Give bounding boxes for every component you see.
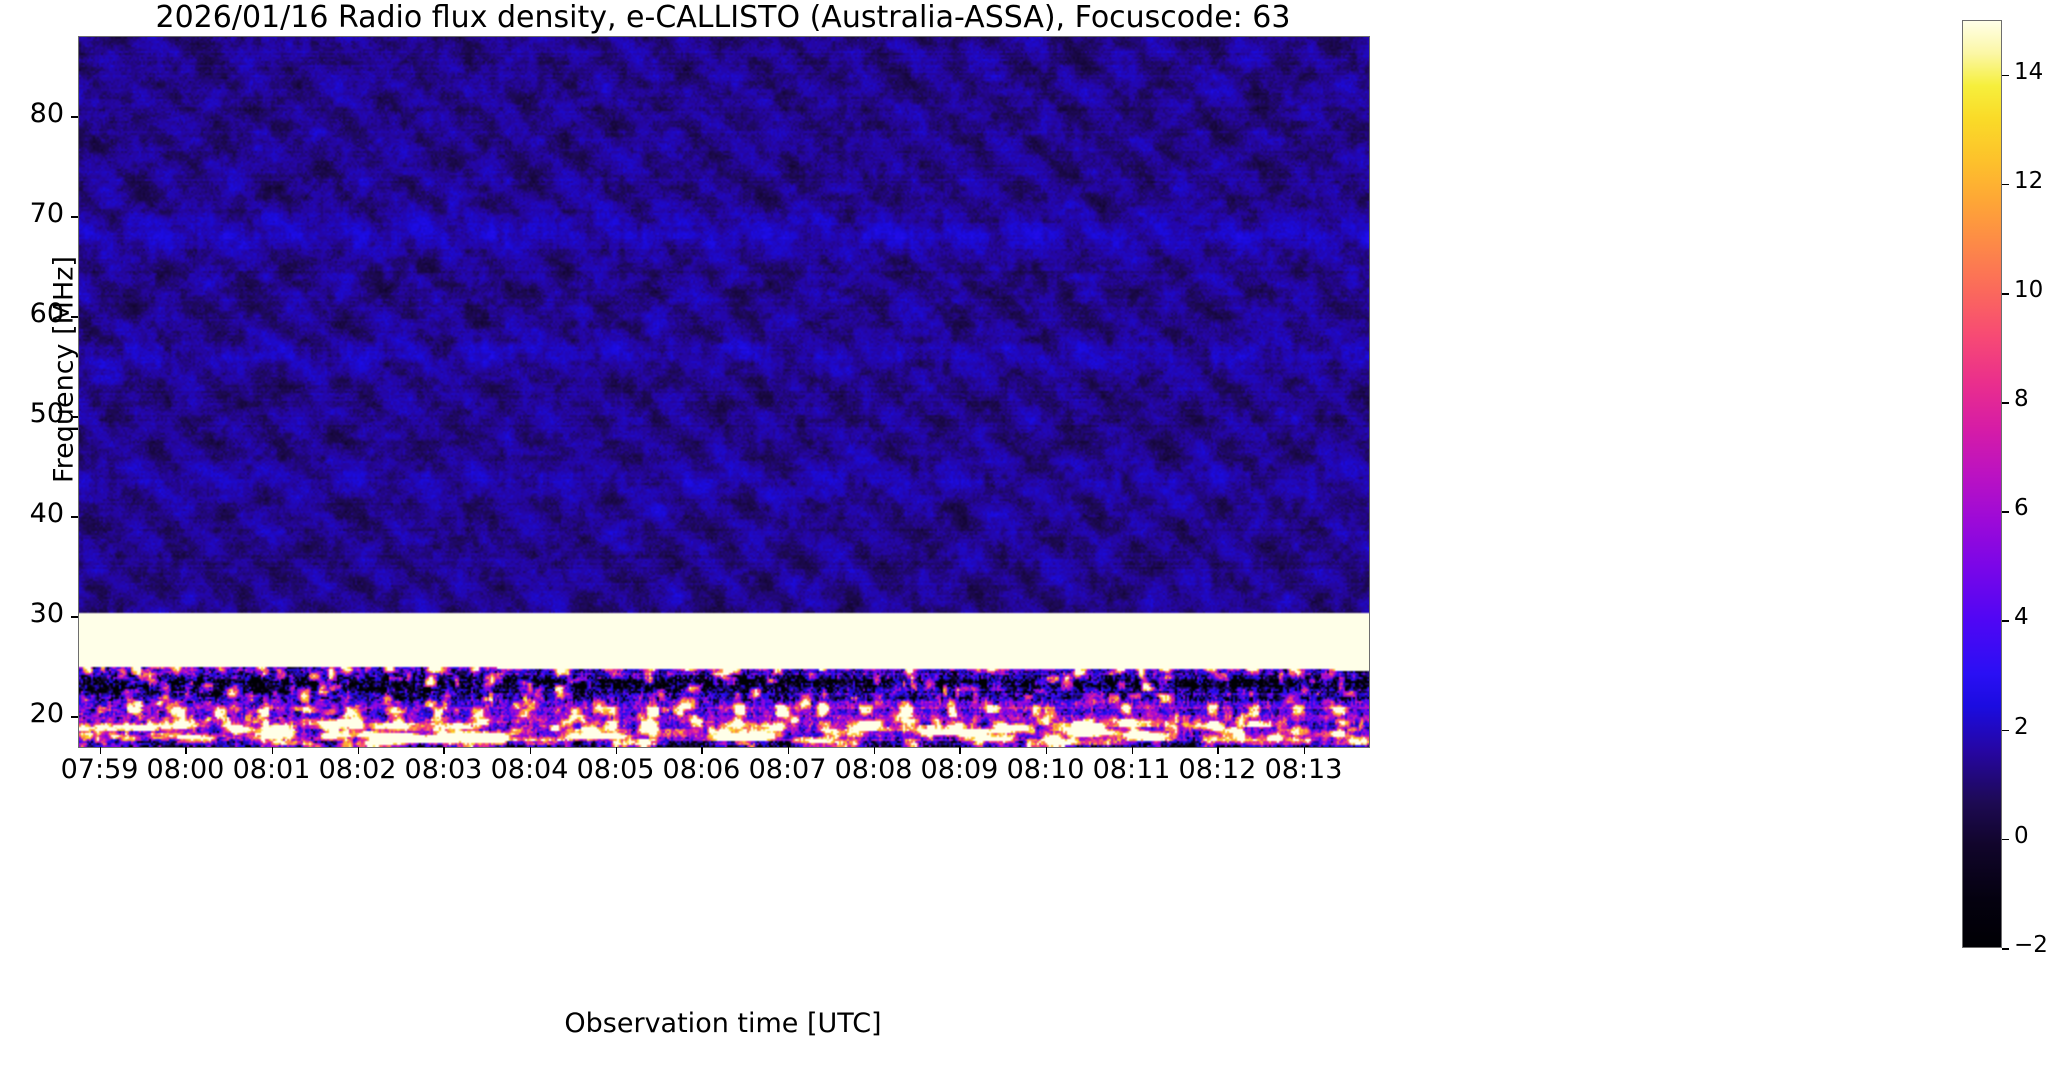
x-tick-mark (358, 747, 360, 754)
colorbar-tick-mark (2002, 839, 2009, 841)
x-tick-mark (1217, 747, 1219, 754)
x-tick-mark (701, 747, 703, 754)
x-tick-mark (100, 747, 102, 754)
y-tick-mark (71, 316, 78, 318)
colorbar-tick-mark (2002, 293, 2009, 295)
y-tick-mark (71, 516, 78, 518)
y-tick-label: 80 (4, 98, 64, 129)
colorbar-tick-label: 14 (2014, 59, 2043, 85)
x-tick-mark (272, 747, 274, 754)
x-tick-mark (959, 747, 961, 754)
colorbar-tick-mark (2002, 75, 2009, 77)
y-tick-mark (71, 416, 78, 418)
colorbar-tick-label: 0 (2014, 823, 2029, 849)
x-tick-mark (185, 747, 187, 754)
x-tick-mark (1046, 747, 1048, 754)
y-tick-label: 70 (4, 198, 64, 229)
y-tick-label: 50 (4, 398, 64, 429)
x-tick-mark (788, 747, 790, 754)
colorbar: −202468101214 (1962, 20, 2002, 948)
y-tick-mark (71, 716, 78, 718)
x-tick-mark (874, 747, 876, 754)
spectrogram-figure: 2026/01/16 Radio flux density, e-CALLIST… (0, 0, 2047, 1067)
spectrogram-image (79, 37, 1369, 747)
colorbar-tick-mark (2002, 620, 2009, 622)
colorbar-tick-label: −2 (2014, 932, 2047, 958)
y-tick-mark (71, 216, 78, 218)
y-tick-mark (71, 616, 78, 618)
x-tick-mark (1132, 747, 1134, 754)
spectrogram-plot-area (78, 36, 1370, 748)
colorbar-tick-mark (2002, 511, 2009, 513)
page-title: 2026/01/16 Radio flux density, e-CALLIST… (78, 2, 1368, 34)
x-axis-label: Observation time [UTC] (78, 1008, 1368, 1039)
colorbar-tick-mark (2002, 730, 2009, 732)
y-tick-label: 30 (4, 598, 64, 629)
y-tick-label: 60 (4, 298, 64, 329)
x-tick-mark (616, 747, 618, 754)
colorbar-tick-mark (2002, 948, 2009, 950)
colorbar-gradient (1962, 20, 2002, 948)
y-tick-label: 20 (4, 698, 64, 729)
colorbar-tick-label: 4 (2014, 604, 2029, 630)
colorbar-tick-label: 6 (2014, 495, 2029, 521)
y-tick-mark (71, 116, 78, 118)
y-tick-label: 40 (4, 498, 64, 529)
x-tick-mark (443, 747, 445, 754)
colorbar-tick-label: 12 (2014, 168, 2043, 194)
colorbar-tick-label: 8 (2014, 386, 2029, 412)
x-tick-label: 08:13 (1244, 754, 1364, 785)
x-tick-mark (530, 747, 532, 754)
x-tick-mark (1304, 747, 1306, 754)
colorbar-tick-mark (2002, 402, 2009, 404)
colorbar-tick-label: 10 (2014, 277, 2043, 303)
colorbar-tick-mark (2002, 184, 2009, 186)
colorbar-tick-label: 2 (2014, 714, 2029, 740)
